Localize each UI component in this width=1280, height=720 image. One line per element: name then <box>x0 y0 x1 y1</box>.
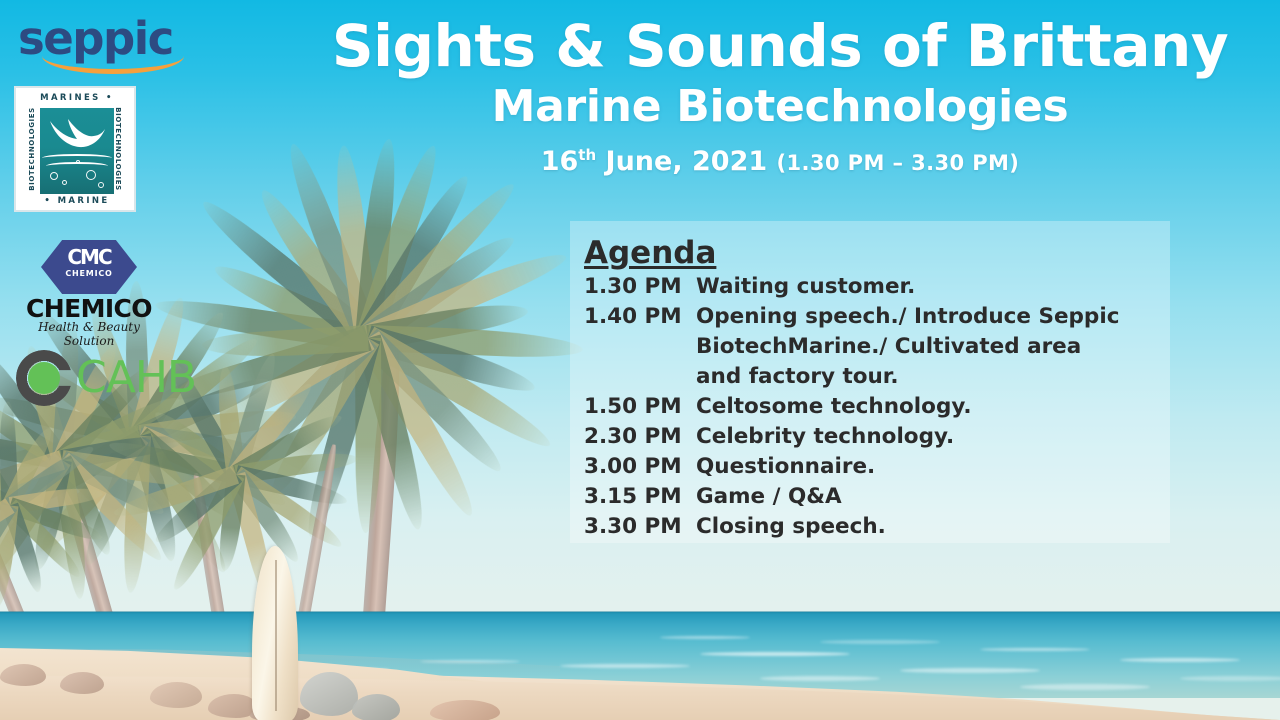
marines-bottom-label: • MARINE <box>16 196 138 206</box>
agenda-time: 2.30 PM <box>584 422 696 452</box>
surf-foam <box>1120 658 1240 662</box>
bubble-1 <box>50 172 58 180</box>
gull-icon <box>48 118 106 152</box>
cahb-wordmark: CAHB <box>76 350 196 406</box>
surf-foam <box>560 664 690 668</box>
agenda-time: 1.40 PM <box>584 302 696 332</box>
title-block: Sights & Sounds of Brittany Marine Biote… <box>280 12 1280 177</box>
agenda-row: 1.50 PMCeltosome technology. <box>584 392 1170 422</box>
surf-foam <box>820 640 940 644</box>
agenda-row: 3.15 PMGame / Q&A <box>584 482 1170 512</box>
surf-foam <box>760 676 880 681</box>
beach-rock <box>300 672 358 716</box>
agenda-description-continued: and factory tour. <box>696 362 1170 392</box>
surf-foam <box>660 636 750 639</box>
surf-foam <box>1180 676 1280 681</box>
surf-foam <box>1020 684 1150 690</box>
bubble-4 <box>98 182 104 188</box>
poster-canvas: seppic MARINES • BIOTECHNOLOGIES BIOTECH… <box>0 0 1280 720</box>
bubble-5 <box>76 160 80 164</box>
chemico-badge-label: CHEMICO <box>41 269 137 278</box>
beach-rock <box>60 672 104 694</box>
marines-biotechnologies-logo: MARINES • BIOTECHNOLOGIES BIOTECHNOLOGIE… <box>14 86 136 212</box>
agenda-description: Celtosome technology. <box>696 392 1170 422</box>
beach-rock <box>0 664 46 686</box>
page-title: Sights & Sounds of Brittany <box>280 12 1280 80</box>
agenda-row: 3.30 PMClosing speech. <box>584 512 1170 542</box>
agenda-row: 1.30 PMWaiting customer. <box>584 272 1170 302</box>
date-rest: June, 2021 <box>596 146 776 177</box>
cahb-logo: CAHB <box>14 348 194 410</box>
marines-right-label: BIOTECHNOLOGIES <box>114 107 122 191</box>
agenda-row-continuation: 1.40 PMand factory tour. <box>584 362 1170 392</box>
surf-foam <box>900 668 1040 673</box>
surf-foam <box>700 652 850 656</box>
beach-rock <box>150 682 202 708</box>
marines-emblem-panel <box>40 108 114 194</box>
surf-foam <box>980 648 1090 651</box>
bubble-3 <box>86 170 96 180</box>
agenda-heading: Agenda <box>584 235 1170 271</box>
agenda-description: Game / Q&A <box>696 482 1170 512</box>
beach-rock <box>430 700 500 720</box>
seppic-logo: seppic <box>18 16 198 78</box>
chemico-logo: CMC CHEMICO CHEMICO Health & Beauty Solu… <box>16 240 162 336</box>
agenda-description: Questionnaire. <box>696 452 1170 482</box>
agenda-time: 1.30 PM <box>584 272 696 302</box>
agenda-row: 1.40 PMOpening speech./ Introduce Seppic <box>584 302 1170 332</box>
chemico-monogram: CMC <box>41 247 137 267</box>
horizon-line <box>0 611 1280 614</box>
chemico-tagline: Health & Beauty Solution <box>16 320 162 348</box>
marines-top-label: MARINES • <box>16 93 138 103</box>
agenda-row-continuation: 1.40 PMBiotechMarine./ Cultivated area <box>584 332 1170 362</box>
chemico-wordmark: CHEMICO <box>16 296 162 322</box>
chemico-hex-badge: CMC CHEMICO <box>41 240 137 294</box>
agenda-description: Celebrity technology. <box>696 422 1170 452</box>
agenda-description: Opening speech./ Introduce Seppic <box>696 302 1170 332</box>
cahb-dot-icon <box>28 362 60 394</box>
date-day: 16 <box>541 146 579 177</box>
page-subtitle: Marine Biotechnologies <box>280 80 1280 134</box>
agenda-list: 1.30 PMWaiting customer.1.40 PMOpening s… <box>584 272 1170 542</box>
agenda-time: 3.30 PM <box>584 512 696 542</box>
agenda-description: Closing speech. <box>696 512 1170 542</box>
beach-rock <box>352 694 400 720</box>
agenda-panel: Agenda 1.30 PMWaiting customer.1.40 PMOp… <box>570 221 1170 543</box>
date-ordinal: th <box>578 146 596 164</box>
seppic-swoosh-icon <box>42 56 184 74</box>
agenda-row: 2.30 PMCelebrity technology. <box>584 422 1170 452</box>
agenda-description: Waiting customer. <box>696 272 1170 302</box>
agenda-time: 1.50 PM <box>584 392 696 422</box>
agenda-time: 3.00 PM <box>584 452 696 482</box>
bubble-2 <box>62 180 67 185</box>
agenda-time: 3.15 PM <box>584 482 696 512</box>
time-range: (1.30 PM – 3.30 PM) <box>777 151 1020 175</box>
agenda-description-continued: BiotechMarine./ Cultivated area <box>696 332 1170 362</box>
agenda-row: 3.00 PMQuestionnaire. <box>584 452 1170 482</box>
event-date-time: 16th June, 2021 (1.30 PM – 3.30 PM) <box>280 146 1280 177</box>
marines-left-label: BIOTECHNOLOGIES <box>28 107 36 191</box>
